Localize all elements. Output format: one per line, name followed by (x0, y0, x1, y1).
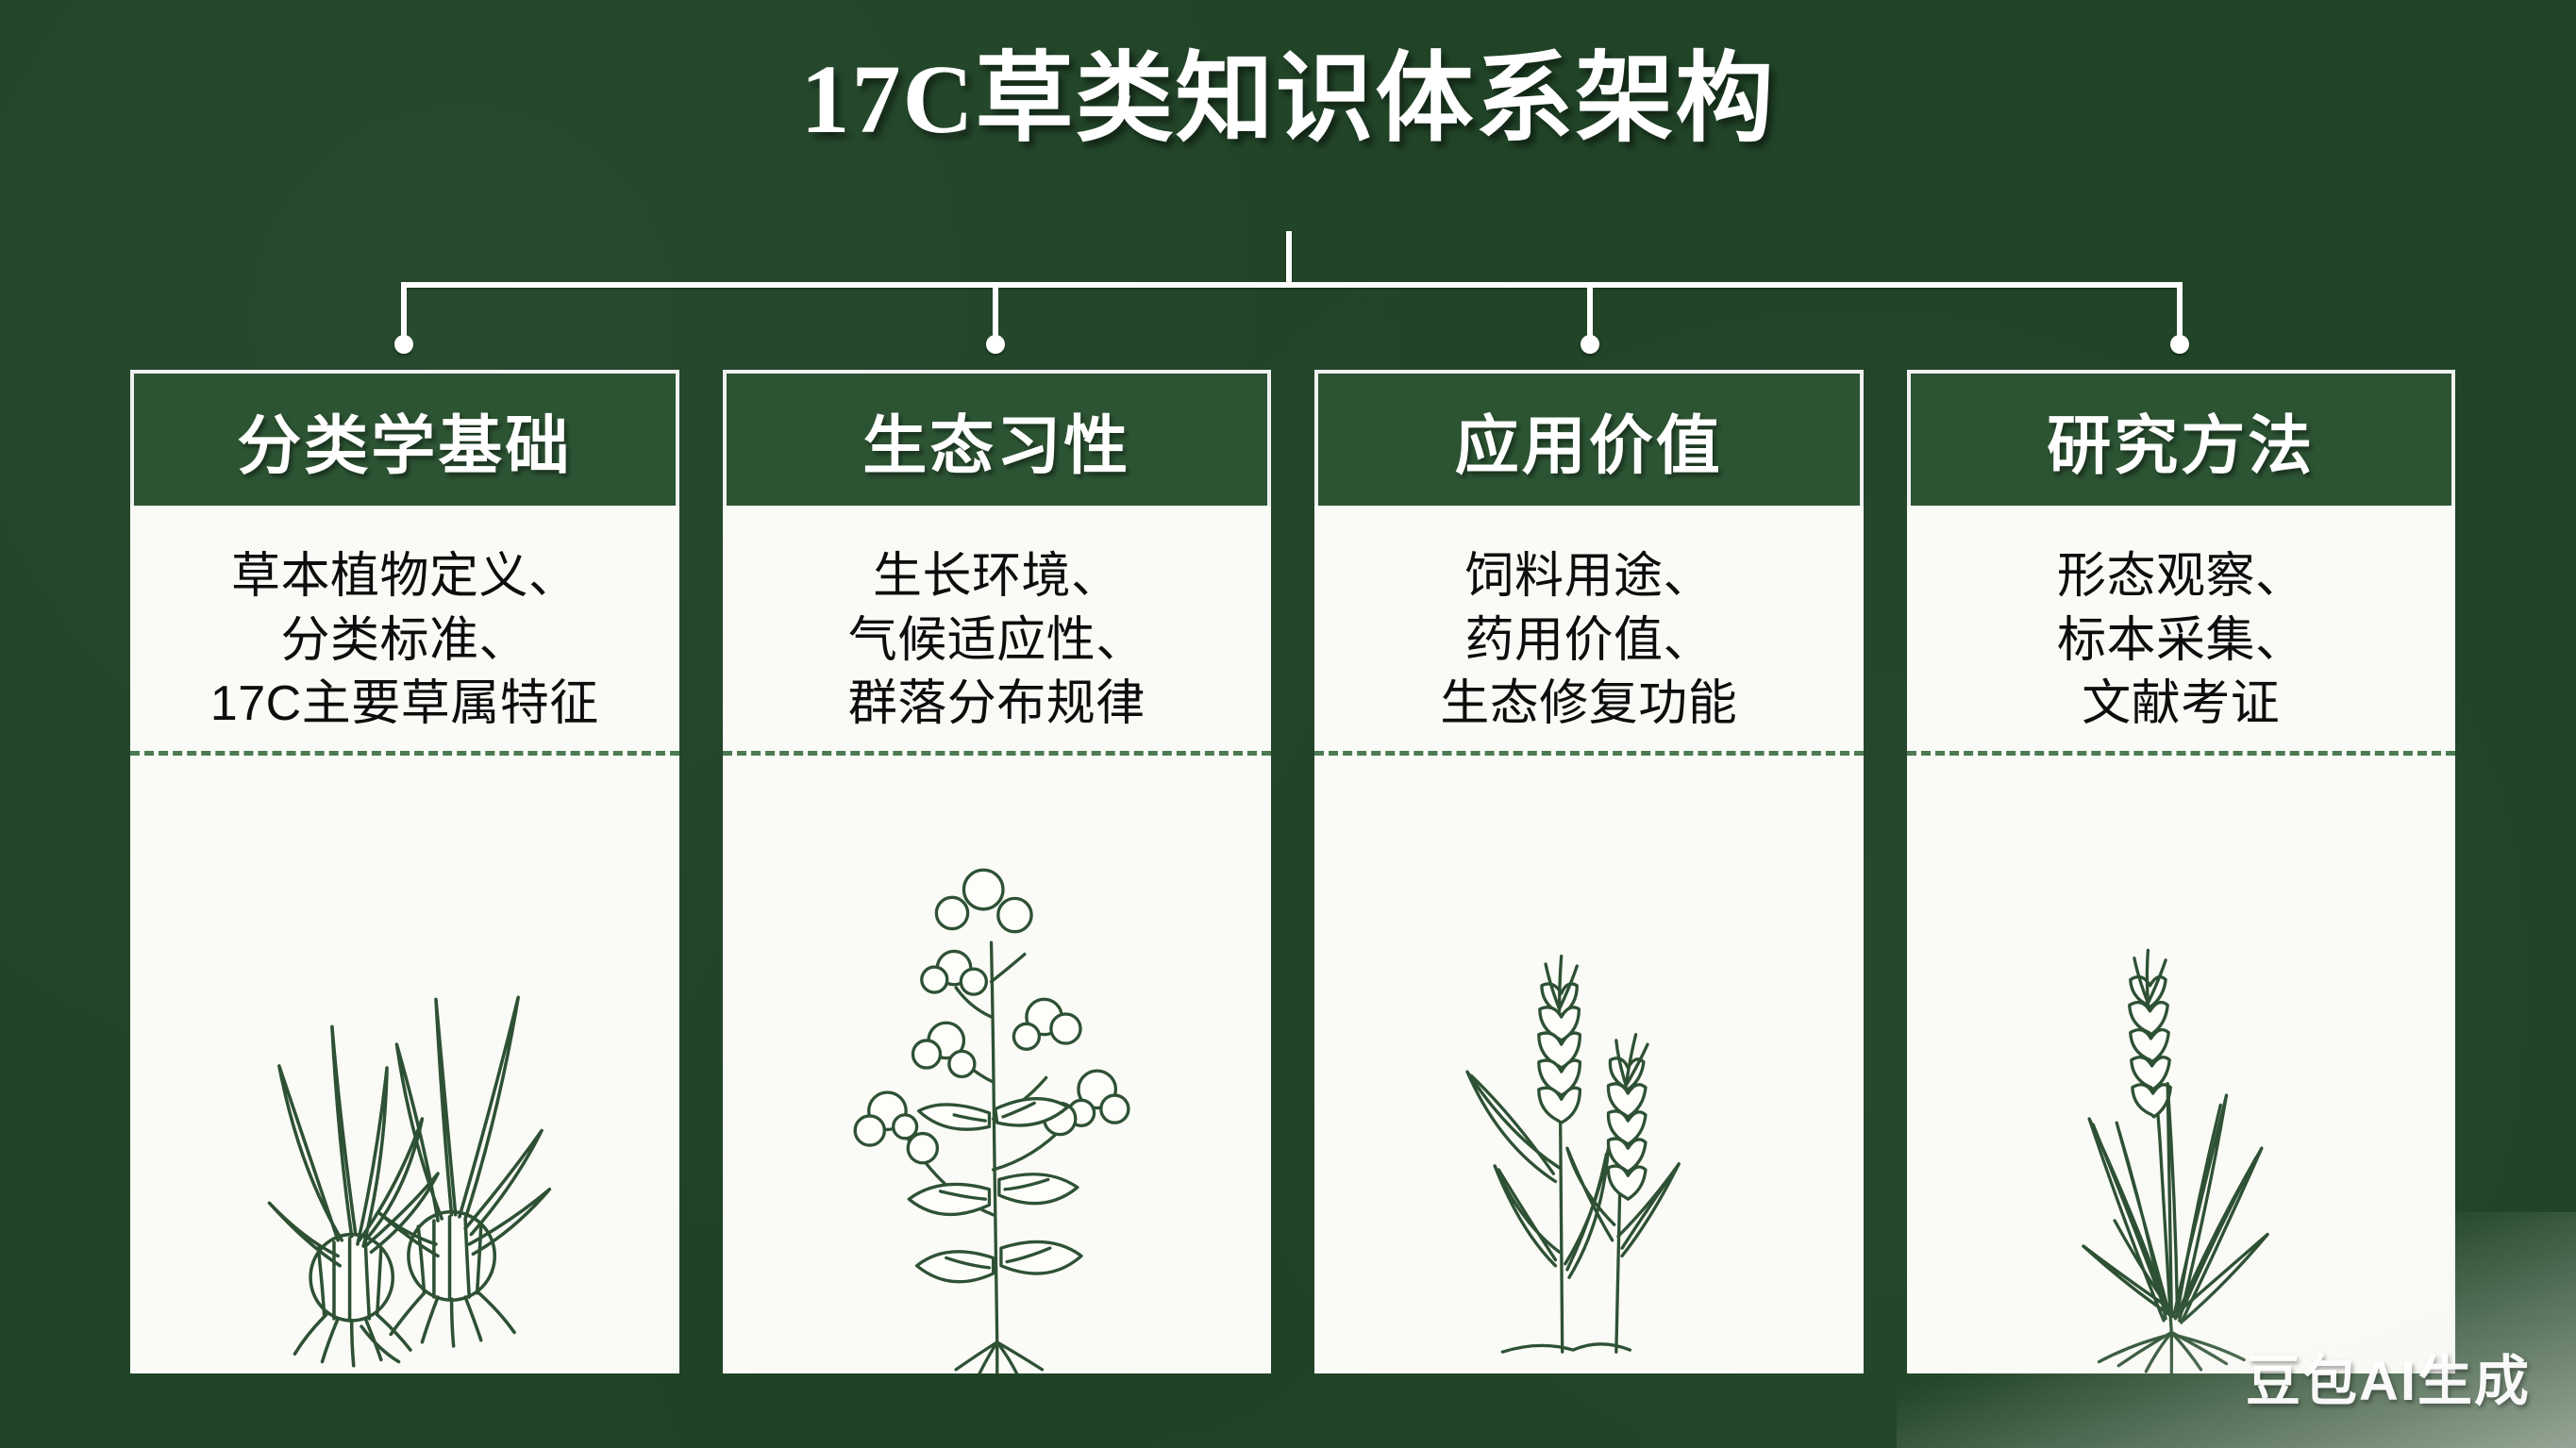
watermark-label: 豆包AI生成 (2246, 1337, 2531, 1416)
card-body: 饲料用途、 药用价值、 生态修复功能 (1314, 506, 1864, 1373)
node-dot-icon (1581, 335, 1599, 354)
wheat-stalks-icon (1314, 756, 1864, 1373)
card-row: 分类学基础 草本植物定义、 分类标准、 17C主要草属特征 (130, 370, 2455, 1373)
card-description-line: 17C主要草属特征 (147, 673, 662, 737)
card-description-line: 草本植物定义、 (147, 545, 662, 609)
card-taxonomy[interactable]: 分类学基础 草本植物定义、 分类标准、 17C主要草属特征 (130, 370, 679, 1373)
card-title: 应用价值 (1455, 393, 1723, 487)
card-description: 草本植物定义、 分类标准、 17C主要草属特征 (130, 506, 679, 741)
card-title: 研究方法 (2047, 393, 2315, 487)
card-description-line: 群落分布规律 (740, 673, 1255, 737)
card-title: 分类学基础 (237, 393, 572, 487)
card-ecology[interactable]: 生态习性 生长环境、 气候适应性、 群落分布规律 (723, 370, 1272, 1373)
card-description-line: 分类标准、 (147, 609, 662, 674)
connector-drop-4 (2177, 282, 2183, 341)
connector-rail (401, 282, 2180, 288)
card-description: 饲料用途、 药用价值、 生态修复功能 (1314, 506, 1864, 741)
card-title: 生态习性 (862, 393, 1130, 487)
card-description-line: 形态观察、 (1924, 545, 2439, 609)
card-description: 形态观察、 标本采集、 文献考证 (1907, 506, 2456, 741)
card-description-line: 生长环境、 (740, 545, 1255, 609)
page-title: 17C草类知识体系架构 (0, 45, 2576, 155)
grain-grass-clump-icon (1907, 756, 2456, 1373)
card-description: 生长环境、 气候适应性、 群落分布规律 (723, 506, 1272, 741)
node-dot-icon (2170, 335, 2189, 354)
card-description-line: 标本采集、 (1924, 609, 2439, 674)
card-header: 生态习性 (723, 370, 1272, 506)
card-description-line: 气候适应性、 (740, 609, 1255, 674)
bulb-grass-plants-icon (130, 756, 679, 1373)
card-description-line: 文献考证 (1924, 673, 2439, 737)
connector-drop-1 (401, 282, 407, 341)
card-header: 分类学基础 (130, 370, 679, 506)
node-dot-icon (986, 335, 1005, 354)
connector-drop-3 (1587, 282, 1593, 341)
card-header: 应用价值 (1314, 370, 1864, 506)
connector-drop-2 (993, 282, 998, 341)
card-body: 草本植物定义、 分类标准、 17C主要草属特征 (130, 506, 679, 1373)
node-dot-icon (394, 335, 413, 354)
card-description-line: 生态修复功能 (1331, 673, 1847, 737)
card-application-value[interactable]: 应用价值 饲料用途、 药用价值、 生态修复功能 (1314, 370, 1864, 1373)
card-description-line: 药用价值、 (1331, 609, 1847, 674)
connector-stem (1286, 231, 1292, 286)
card-body: 生长环境、 气候适应性、 群落分布规律 (723, 506, 1272, 1373)
card-header: 研究方法 (1907, 370, 2456, 506)
flowering-herb-icon (723, 756, 1272, 1373)
card-body: 形态观察、 标本采集、 文献考证 (1907, 506, 2456, 1373)
card-research-method[interactable]: 研究方法 形态观察、 标本采集、 文献考证 (1907, 370, 2456, 1373)
card-description-line: 饲料用途、 (1331, 545, 1847, 609)
